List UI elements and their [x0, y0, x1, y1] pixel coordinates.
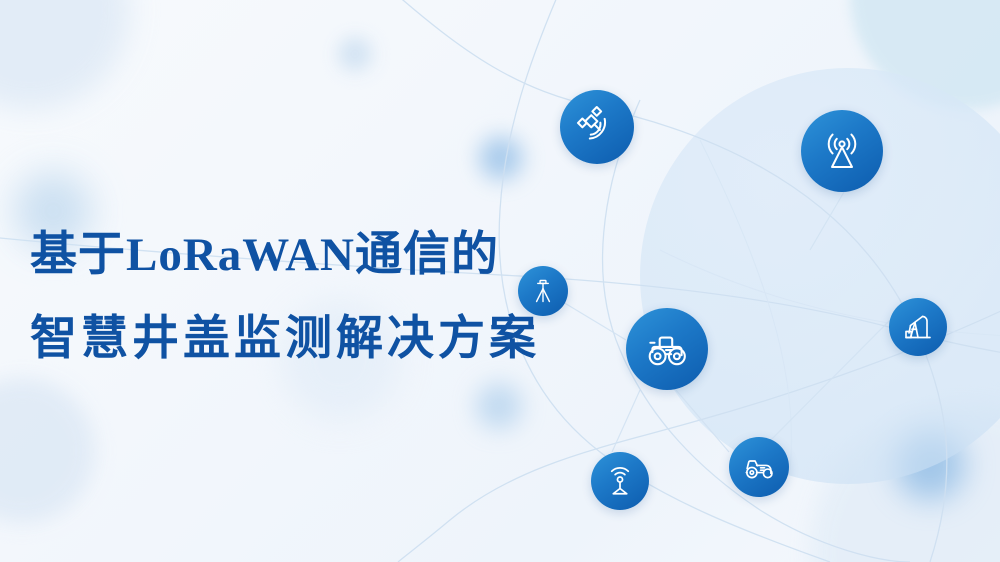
wireless-beacon-icon [602, 463, 638, 499]
background-dot-2 [479, 136, 523, 180]
background-blob-bottom-left [0, 378, 95, 523]
satellite-icon [574, 104, 620, 150]
title-line-1: 基于LoRaWAN通信的 [30, 232, 550, 279]
background-dot-3 [476, 383, 522, 429]
harvester-icon [740, 448, 778, 486]
radio-tower-node[interactable] [801, 110, 883, 192]
page-title: 基于LoRaWAN通信的 智慧井盖监测解决方案 [30, 232, 550, 363]
background-dot-4 [895, 430, 965, 500]
background-blob-top-right [850, 0, 1000, 110]
background-dot-1 [338, 37, 372, 71]
tractor-node[interactable] [626, 308, 708, 390]
oil-pumpjack-node[interactable] [889, 298, 947, 356]
radio-tower-icon [818, 127, 866, 175]
background-blob-bottom-right [810, 402, 1000, 562]
harvester-node[interactable] [729, 437, 789, 497]
oil-pumpjack-icon [900, 309, 936, 345]
slide-canvas: 基于LoRaWAN通信的 智慧井盖监测解决方案 [0, 0, 1000, 562]
satellite-node[interactable] [560, 90, 634, 164]
title-line-2: 智慧井盖监测解决方案 [30, 316, 550, 363]
background-blob-top-left [0, 0, 130, 110]
wireless-beacon-node[interactable] [591, 452, 649, 510]
tractor-icon [642, 324, 692, 374]
